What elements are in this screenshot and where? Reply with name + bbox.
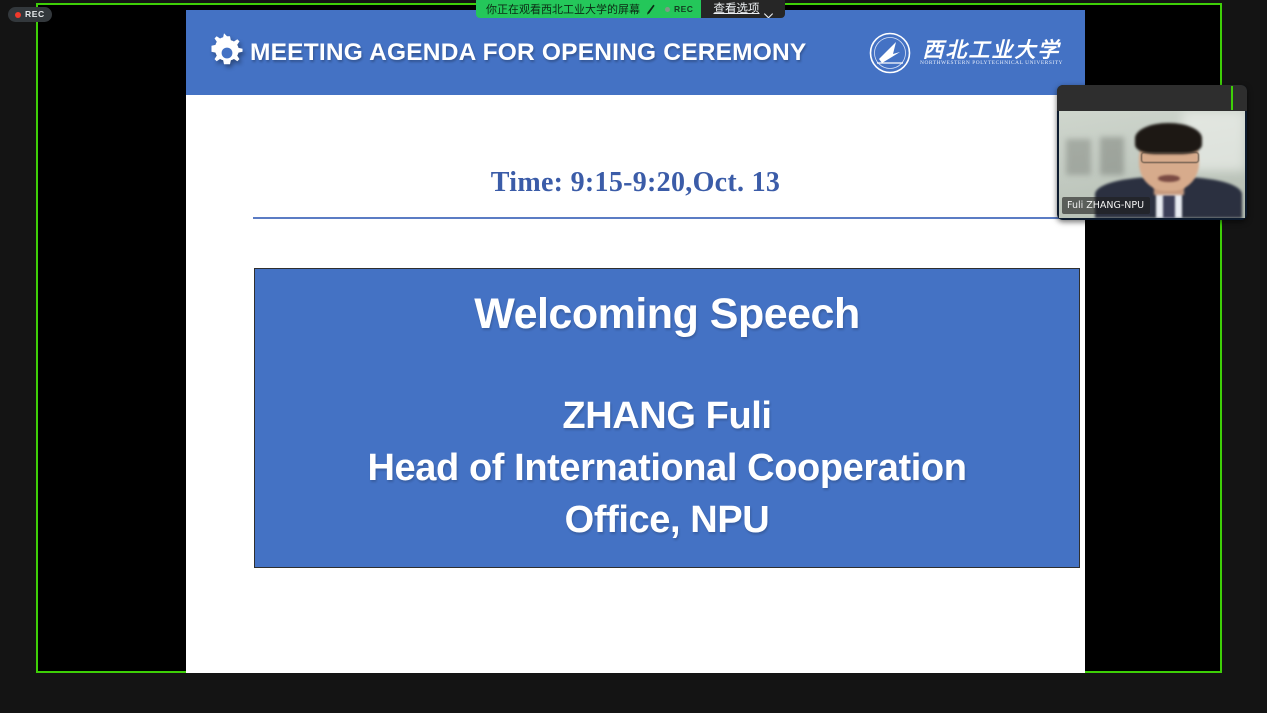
person-mouth [1158, 175, 1180, 182]
person-glasses [1141, 152, 1199, 163]
screen-share-notice-text: 你正在观看西北工业大学的屏幕 [486, 4, 640, 15]
university-name-cn: 西北工业大学 [923, 39, 1061, 60]
npu-emblem-icon [869, 32, 911, 74]
university-name-en: NORTHWESTERN POLYTECHNICAL UNIVERSITY [920, 61, 1063, 66]
video-background-frame-left [1066, 139, 1090, 175]
slide-body: Time: 9:15-9:20,Oct. 13 Welcoming Speech… [186, 95, 1085, 673]
meeting-screen: REC 你正在观看西北工业大学的屏幕 REC 查看选项 [0, 0, 1267, 713]
video-feed: Fuli ZHANG-NPU [1059, 111, 1245, 218]
video-panel-topbar[interactable] [1057, 85, 1247, 111]
presentation-slide: MEETING AGENDA FOR OPENING CEREMONY 西北工业… [186, 10, 1085, 673]
view-options-button[interactable]: 查看选项 [701, 0, 785, 18]
record-dot-icon [15, 12, 21, 18]
slide-time-text: Time: 9:15-9:20,Oct. 13 [186, 167, 1085, 199]
person-tie [1163, 195, 1175, 218]
view-options-label: 查看选项 [713, 3, 759, 15]
welcoming-speech-box: Welcoming Speech ZHANG Fuli Head of Inte… [254, 268, 1080, 568]
slide-title: MEETING AGENDA FOR OPENING CEREMONY [250, 39, 806, 67]
screen-share-notice: 你正在观看西北工业大学的屏幕 REC [476, 0, 701, 18]
slide-header: MEETING AGENDA FOR OPENING CEREMONY 西北工业… [186, 10, 1085, 95]
recording-label: REC [25, 10, 45, 19]
speaker-name: ZHANG Fuli [562, 391, 771, 443]
recording-indicator: REC [8, 7, 52, 22]
welcoming-speech-heading: Welcoming Speech [474, 290, 859, 339]
slide-divider [253, 217, 1113, 219]
pencil-icon [646, 4, 655, 15]
speaker-title-line-2: Office, NPU [565, 495, 770, 547]
gear-icon [207, 33, 247, 73]
share-recording-indicator: REC [661, 5, 693, 14]
participant-name-label: Fuli ZHANG-NPU [1062, 197, 1150, 215]
chevron-down-icon [764, 6, 773, 12]
university-logo: 西北工业大学 NORTHWESTERN POLYTECHNICAL UNIVER… [869, 32, 1063, 74]
speaker-title-line-1: Head of International Cooperation [367, 443, 966, 495]
shared-screen-region: MEETING AGENDA FOR OPENING CEREMONY 西北工业… [36, 3, 1222, 673]
participant-video-panel[interactable]: Fuli ZHANG-NPU [1057, 85, 1247, 220]
share-recording-label: REC [674, 5, 693, 14]
video-panel-share-marker [1231, 86, 1233, 110]
share-record-dot-icon [665, 7, 670, 12]
screen-share-bar: 你正在观看西北工业大学的屏幕 REC 查看选项 [476, 0, 785, 18]
university-wordmark: 西北工业大学 NORTHWESTERN POLYTECHNICAL UNIVER… [920, 39, 1063, 66]
person-hair [1135, 123, 1202, 154]
